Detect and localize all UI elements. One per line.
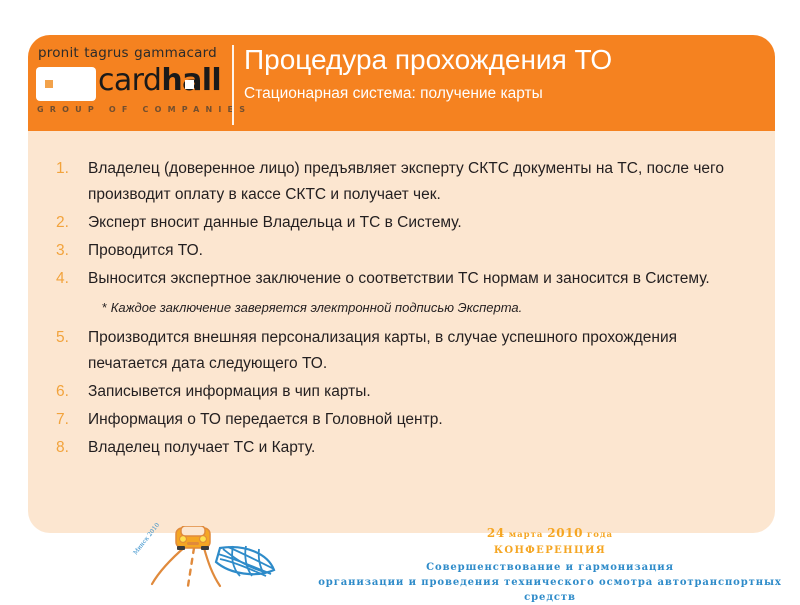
list-item: 8. Владелец получает ТС и Карту. [55,435,749,461]
page-subtitle: Стационарная система: получение карты [244,82,767,106]
conference-year-suffix: года [587,530,613,540]
conference-year: 2010 [547,526,583,540]
footer-text-block: 24 марта 2010 года КОНФЕРЕНЦИЯ Совершенс… [300,526,800,605]
logo-word-light: card [98,63,161,98]
logo-partner-2: tagrus [84,45,128,61]
list-item-number: 8. [55,435,88,461]
list-item: 3. Проводится ТО. [55,238,749,264]
footer: Минск 2010 24 марта 2010 года КОНФЕРЕНЦИ… [0,524,800,600]
logo-tagline: GROUP OF COMPANIES [37,105,251,114]
list-item-number: 5. [55,325,88,351]
header-title-block: Процедура прохождения ТО Стационарная си… [244,41,767,106]
list-item-text: Записывется информация в чип карты. [88,379,736,405]
car-globe-icon: Минск 2010 [128,526,288,596]
list-item-text: Эксперт вносит данные Владельца и ТС в С… [88,210,736,236]
list-item-text: Выносится экспертное заключение о соотве… [88,266,736,292]
list-item-text: Владелец получает ТС и Карту. [88,435,736,461]
cardhall-logo: pronit·tagrus·gammacard cardhall GROUP O… [34,43,232,125]
list-item: 6. Записывется информация в чип карты. [55,379,749,405]
list-item-number: 6. [55,379,88,405]
slide-root: pronit·tagrus·gammacard cardhall GROUP O… [0,0,800,600]
logo-partner-3: gammacard [134,45,217,61]
list-item-text: Производится внешняя персонализация карт… [88,325,736,377]
smartcard-chip-icon [45,80,53,88]
logo-partner-1: pronit [38,45,79,61]
list-item: 2. Эксперт вносит данные Владельца и ТС … [55,210,749,236]
logo-cutout-square [185,80,194,89]
footnote: * Каждое заключение заверяется электронн… [55,296,749,320]
page-title: Процедура прохождения ТО [244,41,767,79]
logo-wordmark: cardhall [98,62,221,100]
list-item-text: Владелец (доверенное лицо) предъявляет э… [88,156,736,208]
conference-label: КОНФЕРЕНЦИЯ [300,542,800,560]
list-item: 1. Владелец (доверенное лицо) предъявляе… [55,156,749,208]
conference-day: 24 [487,526,505,540]
list-item-number: 2. [55,210,88,236]
footnote-marker: * [102,300,107,315]
logo-partner-names: pronit·tagrus·gammacard [38,45,217,61]
list-item-text: Проводится ТО. [88,238,736,264]
conference-subject-line-2: организации и проведения технического ос… [300,575,800,605]
list-item: 4. Выносится экспертное заключение о соо… [55,266,749,292]
header-divider [232,45,234,125]
content-panel: 1. Владелец (доверенное лицо) предъявляе… [28,131,775,533]
procedure-list: 1. Владелец (доверенное лицо) предъявляе… [55,156,749,463]
list-item: 7. Информация о ТО передается в Головной… [55,407,749,433]
conference-date: 24 марта 2010 года [300,526,800,542]
conference-month: марта [509,530,544,540]
list-item-text: Информация о ТО передается в Головной це… [88,407,736,433]
list-item-number: 1. [55,156,88,182]
list-item-number: 4. [55,266,88,292]
conference-subject-line-1: Совершенствование и гармонизация [300,560,800,575]
smartcard-icon [36,67,96,101]
list-item-number: 7. [55,407,88,433]
list-item: 5. Производится внешняя персонализация к… [55,325,749,377]
header-band: pronit·tagrus·gammacard cardhall GROUP O… [28,35,775,131]
logo-wordmark-row: cardhall [34,65,232,103]
footnote-text: Каждое заключение заверяется электронной… [111,300,523,315]
list-item-number: 3. [55,238,88,264]
